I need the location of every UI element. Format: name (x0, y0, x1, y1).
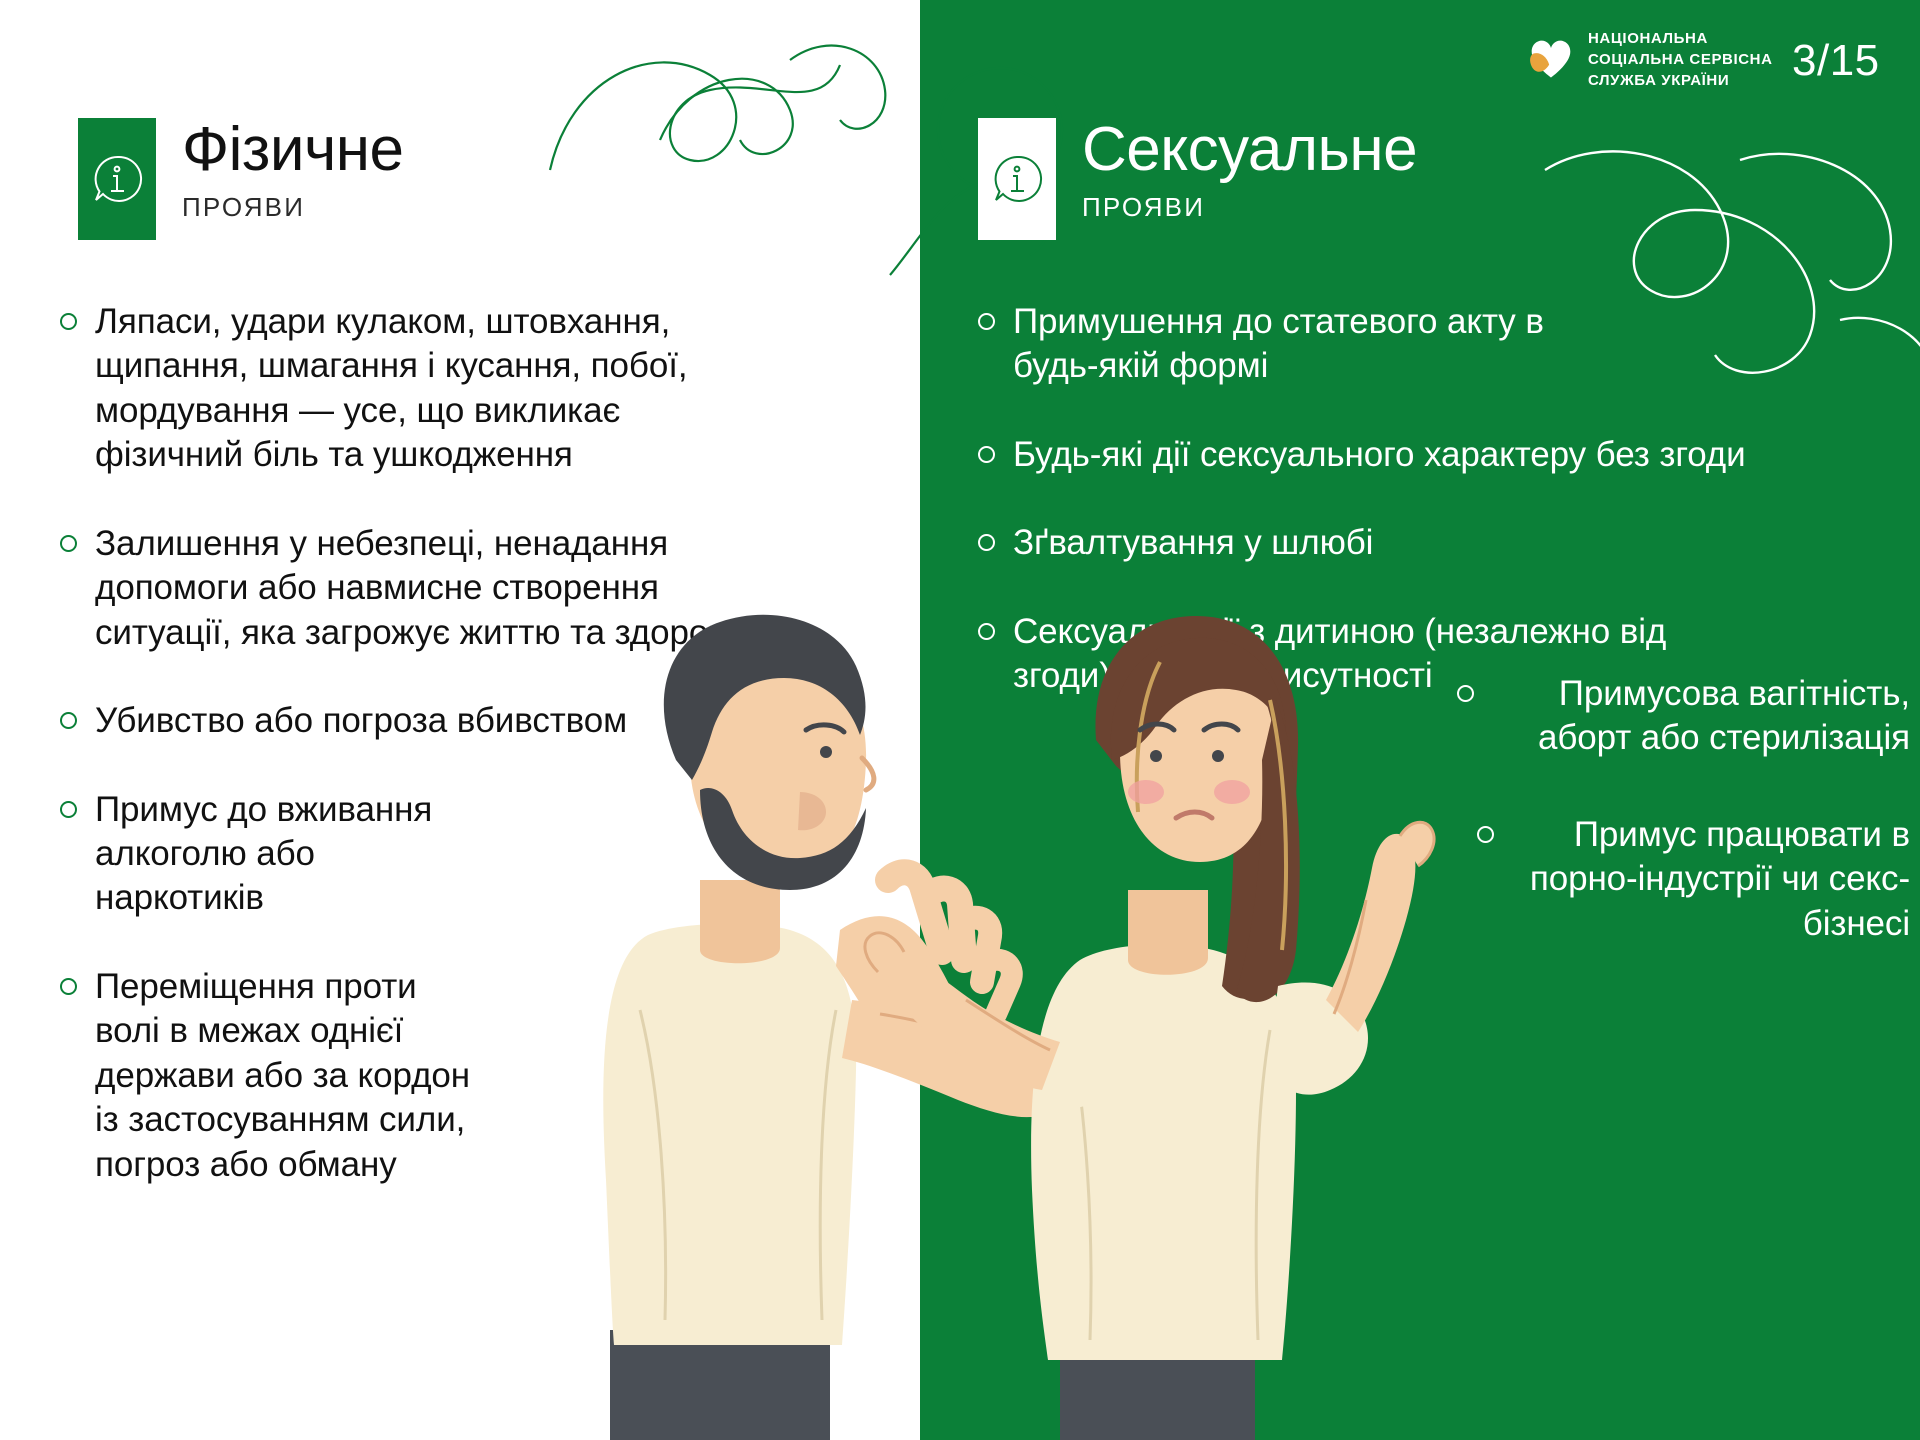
brand-line-1: НАЦІОНАЛЬНА (1588, 30, 1773, 49)
bullet-dot-icon (60, 801, 77, 818)
brand-line-2: СОЦІАЛЬНА СЕРВІСНА (1588, 51, 1773, 70)
bullet-dot-icon (1477, 826, 1494, 843)
bullet-dot-icon (60, 313, 77, 330)
sexual-subtitle: ПРОЯВИ (1082, 192, 1417, 223)
physical-title: Фізичне (182, 118, 404, 182)
page-number: 3/15 (1792, 36, 1880, 86)
brand-line-3: СЛУЖБА УКРАЇНИ (1588, 72, 1773, 91)
sexual-bullet-list-lower: Примусова вагітність, аборт або стериліз… (1110, 672, 1910, 998)
list-item: Примушення до статевого акту в будь-якій… (978, 300, 1618, 389)
list-item: Переміщення проти волі в межах однієї де… (60, 965, 480, 1187)
physical-subtitle: ПРОЯВИ (182, 192, 404, 223)
list-item: Ляпаси, удари кулаком, штовхання, щипанн… (60, 300, 760, 478)
bullet-dot-icon (978, 313, 995, 330)
sexual-header: Сексуальне ПРОЯВИ (978, 118, 1417, 240)
list-item: Примусова вагітність, аборт або стериліз… (1110, 672, 1910, 761)
bullet-text: Примусова вагітність, аборт або стериліз… (1490, 672, 1910, 761)
physical-bullet-list: Ляпаси, удари кулаком, штовхання, щипанн… (60, 300, 760, 1187)
slide-root: НАЦІОНАЛЬНА СОЦІАЛЬНА СЕРВІСНА СЛУЖБА УК… (0, 0, 1920, 1440)
bullet-text: Примус працювати в порно-індустрії чи се… (1510, 813, 1910, 946)
heart-ribbon-logo-icon (1528, 37, 1574, 83)
list-item: Зґвалтування у шлюбі (978, 521, 1838, 565)
bullet-text: Примушення до статевого акту в будь-якій… (1013, 300, 1618, 389)
bullet-text: Переміщення проти волі в межах однієї де… (95, 965, 480, 1187)
bullet-text: Убивство або погроза вбивством (95, 699, 627, 743)
sexual-title: Сексуальне (1082, 118, 1417, 182)
list-item: Примус працювати в порно-індустрії чи се… (1110, 813, 1910, 946)
bullet-text: Залишення у небезпеці, ненадання допомог… (95, 522, 760, 655)
bullet-dot-icon (60, 978, 77, 995)
info-speech-bubble-icon-box (78, 118, 156, 240)
bullet-dot-icon (978, 623, 995, 640)
list-item: Убивство або погроза вбивством (60, 699, 760, 743)
list-item: Будь-які дії сексуального характеру без … (978, 433, 1838, 477)
bullet-text: Будь-які дії сексуального характеру без … (1013, 433, 1746, 477)
bullet-dot-icon (60, 712, 77, 729)
bullet-text: Ляпаси, удари кулаком, штовхання, щипанн… (95, 300, 760, 478)
info-speech-bubble-icon-box (978, 118, 1056, 240)
brand-logo: НАЦІОНАЛЬНА СОЦІАЛЬНА СЕРВІСНА СЛУЖБА УК… (1528, 30, 1773, 90)
bullet-dot-icon (1457, 685, 1474, 702)
bullet-text: Примус до вживання алкоголю або наркотик… (95, 788, 490, 921)
physical-header: Фізичне ПРОЯВИ (78, 118, 404, 240)
info-speech-bubble-icon (987, 149, 1047, 209)
bullet-text: Зґвалтування у шлюбі (1013, 521, 1373, 565)
bullet-dot-icon (978, 446, 995, 463)
sexual-bullet-list: Примушення до статевого акту в будь-якій… (978, 300, 1618, 699)
info-speech-bubble-icon (87, 149, 147, 209)
list-item: Примус до вживання алкоголю або наркотик… (60, 788, 490, 921)
list-item: Залишення у небезпеці, ненадання допомог… (60, 522, 760, 655)
bullet-dot-icon (60, 535, 77, 552)
bullet-dot-icon (978, 534, 995, 551)
